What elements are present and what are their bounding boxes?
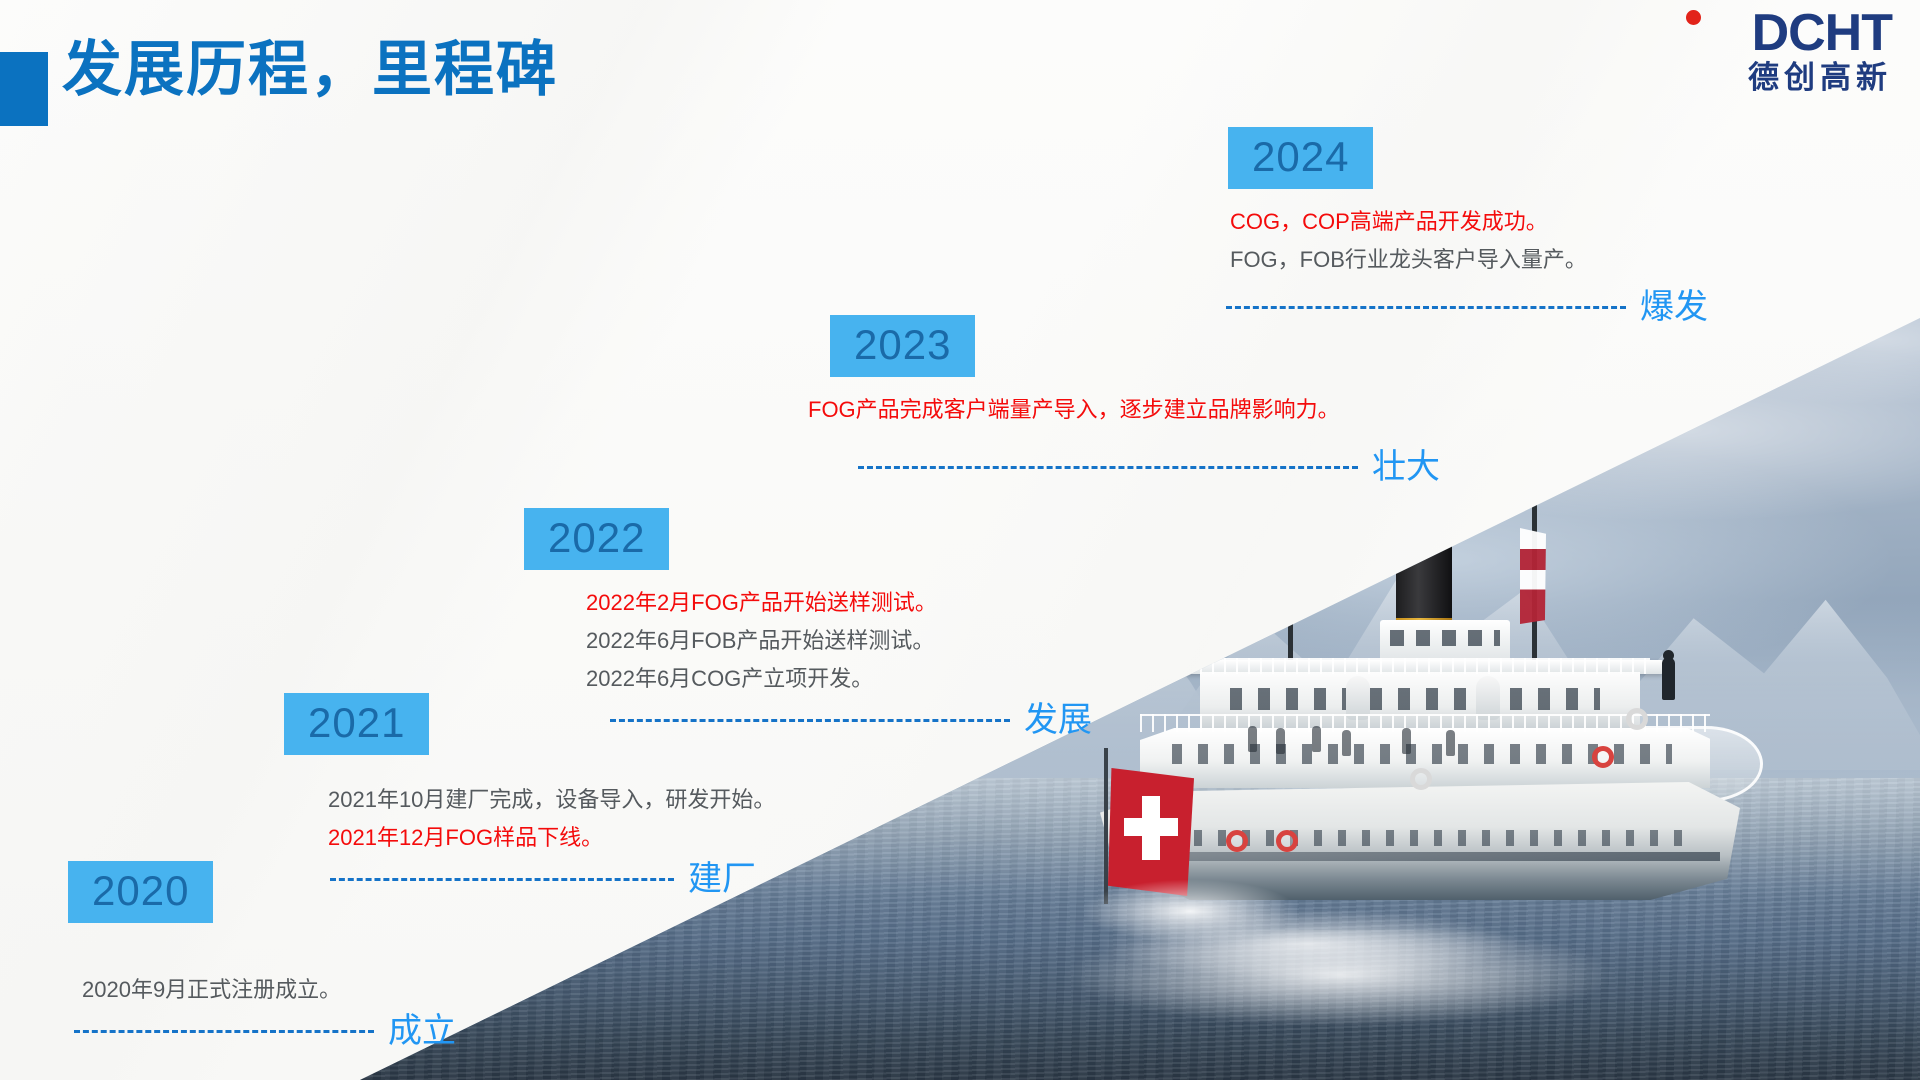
boat-bow-wave	[1070, 876, 1370, 964]
year-badge-2022: 2022	[524, 508, 669, 570]
boat-crew-figure-head	[1663, 650, 1674, 661]
milestone-note: 2022年6月FOB产品开始送样测试。	[586, 622, 1092, 660]
year-badge-2021: 2021	[284, 693, 429, 755]
milestone-2021-notes: 2021年10月建厂完成，设备导入，研发开始。 2021年12月FOG样品下线。	[328, 781, 775, 857]
slide-canvas: 发展历程，里程碑 DCHT 德创高新 2024 COG，COP高端产品开发成功。…	[0, 0, 1920, 1080]
milestone-note: COG，COP高端产品开发成功。	[1230, 203, 1708, 241]
boat-main-railing	[1140, 714, 1710, 732]
phase-label: 壮大	[1372, 447, 1440, 487]
boat-upper-railing	[1200, 658, 1650, 674]
phase-label: 成立	[388, 1011, 456, 1051]
swiss-flag-cross-horizontal	[1124, 818, 1178, 836]
milestone-2020-phase-row: 成立	[74, 1011, 456, 1051]
boat-passenger	[1342, 730, 1351, 756]
milestone-2024: 2024 COG，COP高端产品开发成功。 FOG，FOB行业龙头客户导入量产。…	[1212, 127, 1708, 327]
year-badge-2023: 2023	[830, 315, 975, 377]
milestone-2023: 2023 FOG产品完成客户端量产导入，逐步建立品牌影响力。 壮大	[808, 315, 1440, 487]
milestone-note: 2022年2月FOG产品开始送样测试。	[586, 584, 1092, 622]
boat-lifebuoy	[1410, 768, 1432, 790]
boat-crew-figure	[1662, 658, 1675, 700]
phase-dashed-line	[858, 466, 1358, 469]
company-logo: DCHT 德创高新	[1684, 6, 1892, 98]
milestone-2020-notes: 2020年9月正式注册成立。	[82, 971, 456, 1009]
boat-passenger	[1276, 728, 1285, 754]
phase-label: 发展	[1024, 700, 1092, 740]
boat-passenger	[1248, 726, 1257, 752]
boat-funnel-upper	[1396, 500, 1452, 618]
year-badge-2020: 2020	[68, 861, 213, 923]
boat-passenger	[1446, 730, 1455, 756]
page-title: 发展历程，里程碑	[62, 34, 558, 106]
boat-lifebuoy	[1626, 708, 1648, 730]
milestone-note: 2021年10月建厂完成，设备导入，研发开始。	[328, 781, 775, 819]
milestone-2023-phase-row: 壮大	[858, 447, 1440, 487]
boat-lifebuoy	[1276, 830, 1298, 852]
logo-wordmark-row: DCHT	[1684, 6, 1892, 58]
photo-steamboat	[1080, 500, 1800, 970]
title-accent-bar	[0, 52, 48, 126]
phase-label: 爆发	[1640, 287, 1708, 327]
boat-lifebuoy	[1226, 830, 1248, 852]
milestone-2020: 2020 2020年9月正式注册成立。 成立	[68, 861, 456, 1051]
boat-passenger	[1312, 726, 1321, 752]
boat-hull-stripe	[1130, 852, 1720, 861]
boat-pilot-windows	[1390, 630, 1500, 646]
boat-pennant	[1520, 528, 1546, 624]
milestone-2024-notes: COG，COP高端产品开发成功。 FOG，FOB行业龙头客户导入量产。	[1230, 203, 1708, 279]
milestone-note: 2020年9月正式注册成立。	[82, 971, 456, 1009]
milestone-note: FOG，FOB行业龙头客户导入量产。	[1230, 241, 1708, 279]
milestone-note: FOG产品完成客户端量产导入，逐步建立品牌影响力。	[808, 391, 1440, 429]
boat-upper-deck-windows	[1230, 688, 1600, 710]
phase-label: 建厂	[688, 859, 756, 899]
milestone-2023-notes: FOG产品完成客户端量产导入，逐步建立品牌影响力。	[808, 391, 1440, 429]
year-badge-2024: 2024	[1228, 127, 1373, 189]
phase-dashed-line	[1226, 306, 1626, 309]
phase-dashed-line	[74, 1030, 374, 1033]
boat-passenger	[1402, 728, 1411, 754]
milestone-2022-notes: 2022年2月FOG产品开始送样测试。 2022年6月FOB产品开始送样测试。 …	[586, 584, 1092, 698]
logo-wordmark: DCHT	[1752, 8, 1892, 58]
boat-hull-portholes	[1170, 830, 1690, 846]
logo-subtitle: 德创高新	[1684, 60, 1892, 96]
milestone-note: 2021年12月FOG样品下线。	[328, 819, 775, 857]
boat-lifebuoy	[1592, 746, 1614, 768]
logo-red-dot-icon	[1686, 10, 1701, 25]
